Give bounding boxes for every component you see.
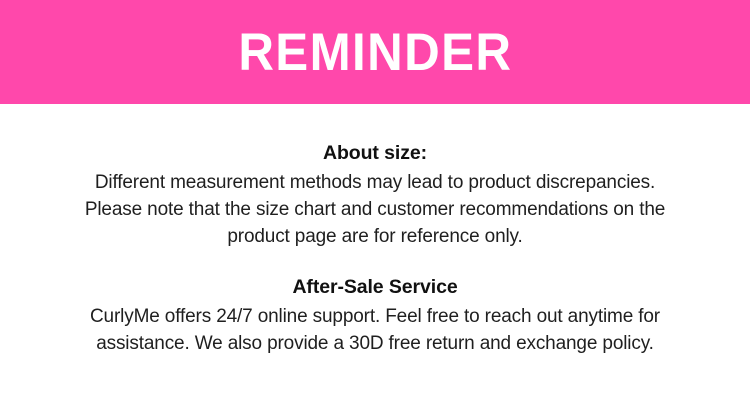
reminder-header-banner: REMINDER [0, 0, 750, 104]
about-size-body: Different measurement methods may lead t… [30, 169, 720, 250]
after-sale-service-body: CurlyMe offers 24/7 online support. Feel… [30, 303, 720, 357]
section-after-sale-service: After-Sale Service CurlyMe offers 24/7 o… [30, 250, 720, 357]
about-size-heading: About size: [30, 140, 720, 166]
about-size-line-3: product page are for reference only. [30, 223, 720, 250]
reminder-banner-page: REMINDER About size: Different measureme… [0, 0, 750, 404]
after-sale-service-line-1: CurlyMe offers 24/7 online support. Feel… [30, 303, 720, 330]
section-about-size: About size: Different measurement method… [30, 104, 720, 250]
about-size-line-1: Different measurement methods may lead t… [30, 169, 720, 196]
page-title: REMINDER [238, 26, 512, 79]
about-size-line-2: Please note that the size chart and cust… [30, 196, 720, 223]
reminder-content: About size: Different measurement method… [0, 104, 750, 357]
after-sale-service-line-2: assistance. We also provide a 30D free r… [30, 330, 720, 357]
after-sale-service-heading: After-Sale Service [30, 274, 720, 300]
